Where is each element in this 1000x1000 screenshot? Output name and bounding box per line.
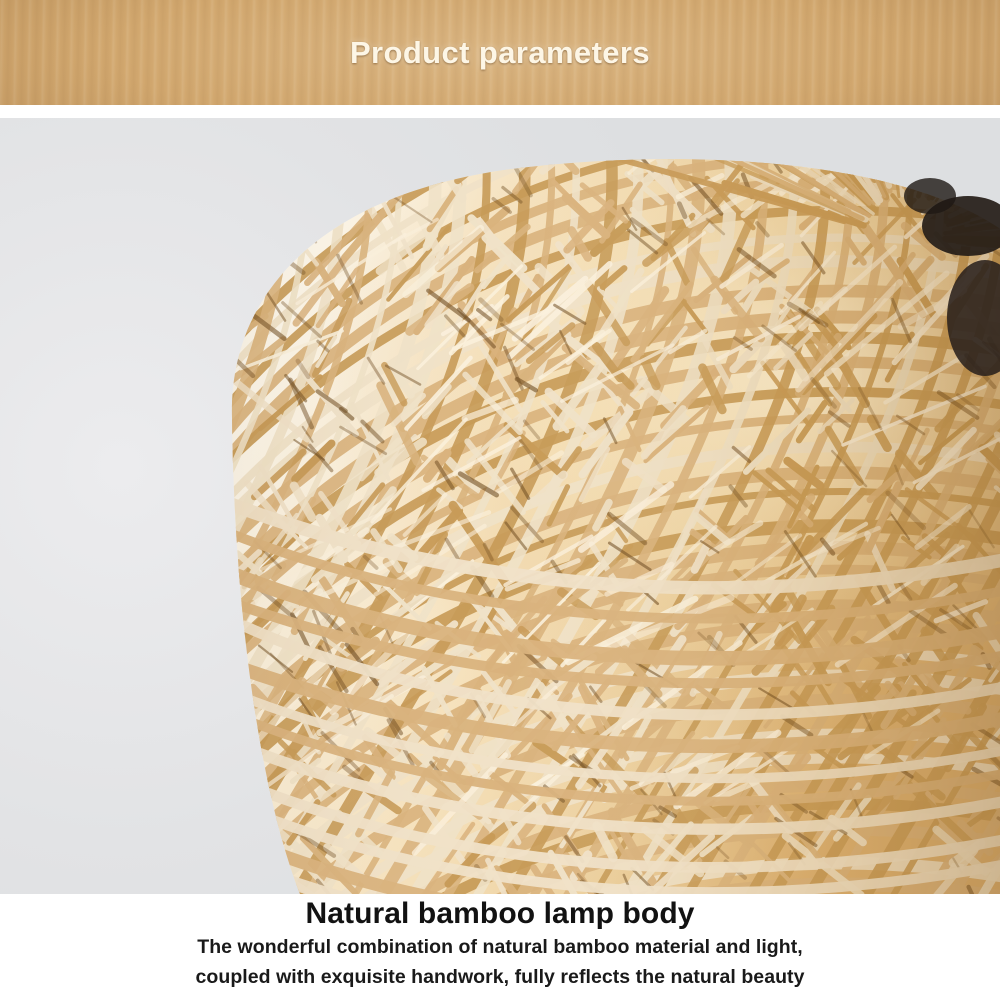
caption-line-1: The wonderful combination of natural bam… — [0, 932, 1000, 962]
banner-photo-separator — [0, 105, 1000, 118]
product-photo-woven-bamboo-lamp — [0, 118, 1000, 894]
caption-block: Natural bamboo lamp body The wonderful c… — [0, 894, 1000, 1000]
product-detail-page: Product parameters — [0, 0, 1000, 1000]
caption-title: Natural bamboo lamp body — [0, 894, 1000, 932]
caption-line-2: coupled with exquisite handwork, fully r… — [0, 962, 1000, 992]
banner-title: Product parameters — [0, 0, 1000, 105]
bamboo-lamp-illustration — [0, 118, 1000, 894]
